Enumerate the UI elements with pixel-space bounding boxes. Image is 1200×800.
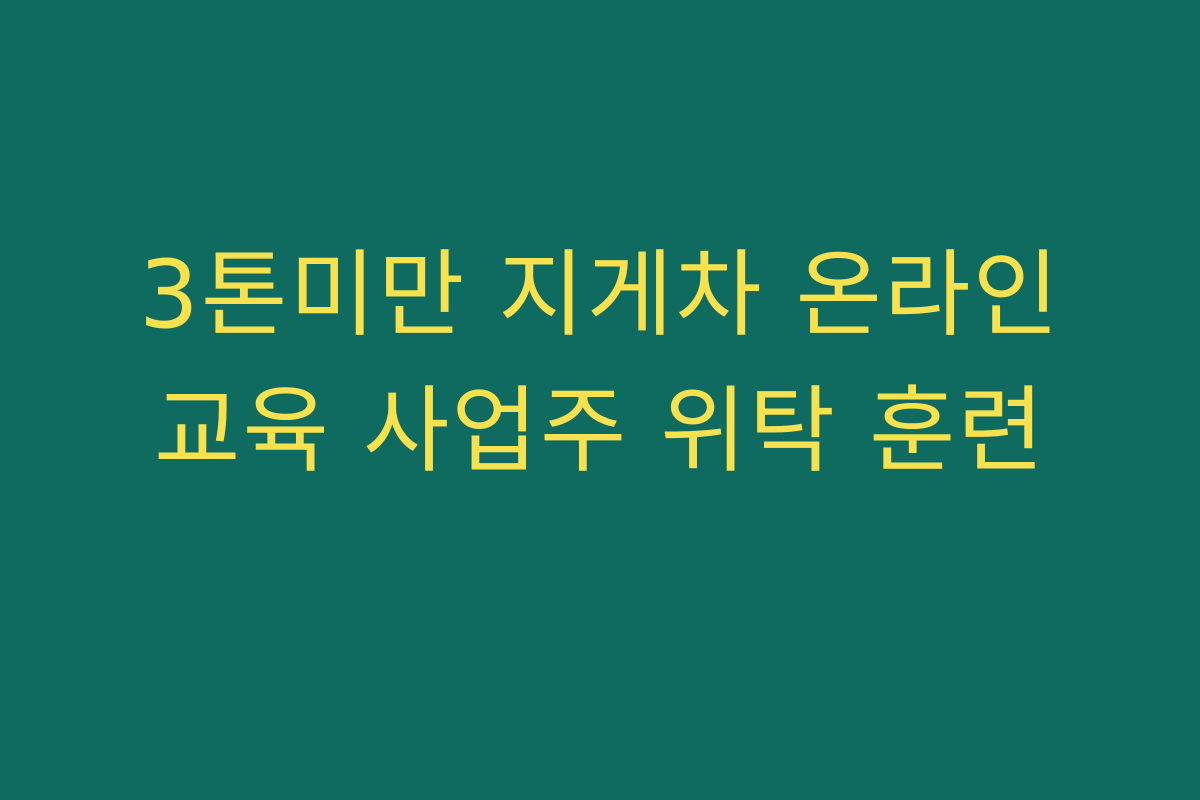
title-line-1: 3톤미만 지게차 온라인 [0,228,1200,364]
title-line-2: 교육 사업주 위탁 훈련 [0,364,1200,500]
title-block: 3톤미만 지게차 온라인 교육 사업주 위탁 훈련 [0,0,1200,800]
banner-canvas: 3톤미만 지게차 온라인 교육 사업주 위탁 훈련 [0,0,1200,800]
